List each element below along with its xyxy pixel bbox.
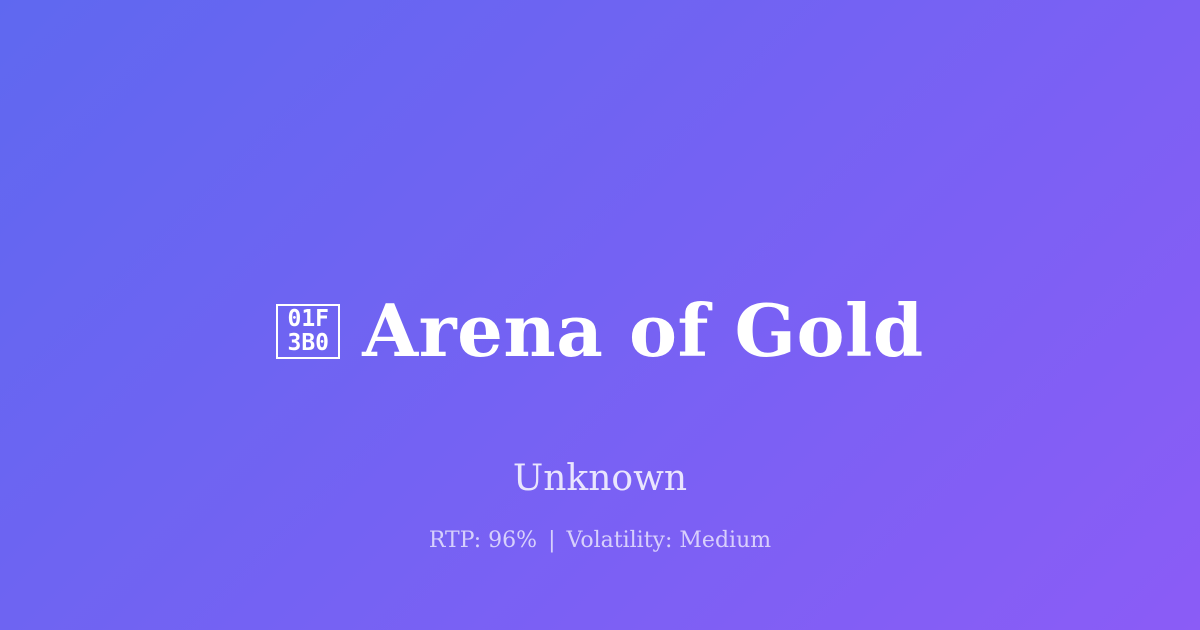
game-provider: Unknown [513,461,687,497]
hero-block: 01F 3B0 Arena of Gold Unknown [0,247,1200,497]
tofu-codepoint-top: 01F [287,307,329,331]
rtp-label: RTP: [429,528,481,553]
tofu-codepoint-bottom: 3B0 [287,331,329,355]
slot-machine-icon: 01F 3B0 [276,304,340,359]
page-title: Arena of Gold [362,295,923,367]
volatility-label: Volatility: [567,528,673,553]
meta-separator: | [544,528,559,553]
game-og-card: 01F 3B0 Arena of Gold Unknown RTP: 96% |… [0,0,1200,630]
game-meta-line: RTP: 96% | Volatility: Medium [0,530,1200,552]
volatility-value: Medium [679,528,771,553]
title-row: 01F 3B0 Arena of Gold [276,247,923,415]
rtp-value: 96% [488,528,537,553]
